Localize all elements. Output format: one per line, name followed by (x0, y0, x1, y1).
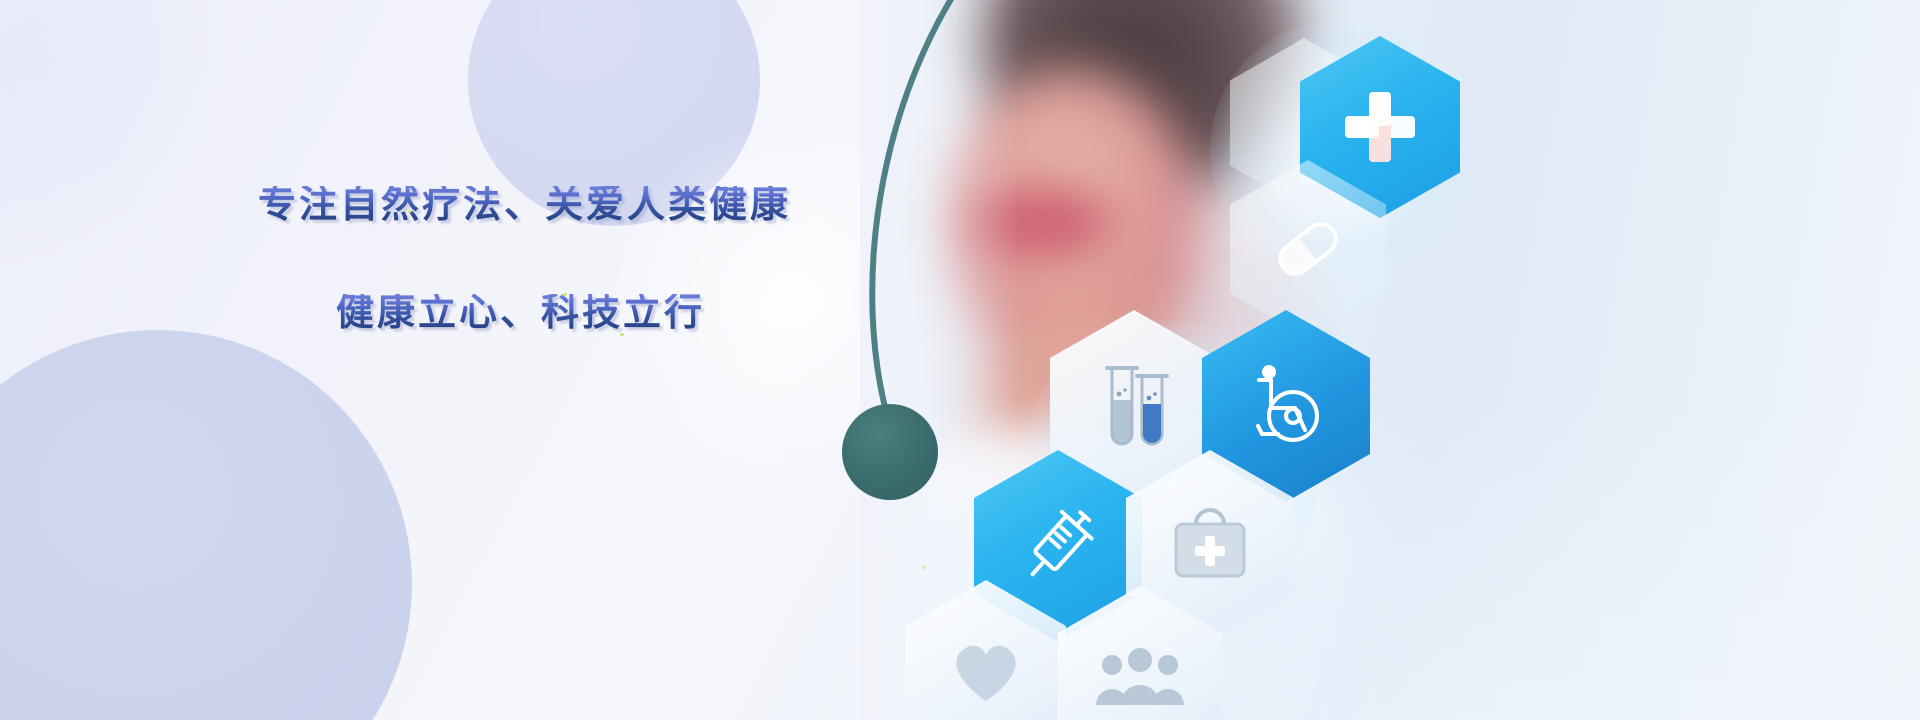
sparkle-speck-3 (620, 333, 624, 336)
test-tubes-icon (1086, 356, 1182, 456)
heart-icon (946, 635, 1026, 709)
decorative-soft-glow-left (0, 0, 240, 270)
first-aid-kit-icon (1162, 502, 1258, 590)
capsule-pill-icon (1263, 204, 1353, 294)
medical-cross-icon (1337, 84, 1423, 170)
arc-end-dot (842, 404, 938, 500)
wheelchair-icon (1238, 358, 1334, 454)
sparkle-speck-1 (408, 210, 412, 213)
sparkle-speck-4 (922, 566, 926, 569)
sparkle-speck-2 (562, 293, 567, 296)
hero-banner: 专注自然疗法、关爱人类健康 健康立心、科技立行 (0, 0, 1920, 720)
headline-line-2: 健康立心、科技立行 (336, 294, 878, 332)
syringe-icon (1008, 496, 1108, 596)
decorative-circle-bottom-left (0, 330, 412, 720)
headline-line-1: 专注自然疗法、关爱人类健康 (258, 186, 878, 224)
hexagon-icon-cluster (930, 20, 1490, 720)
headline-block: 专注自然疗法、关爱人类健康 健康立心、科技立行 (258, 186, 878, 332)
family-group-icon (1092, 647, 1188, 713)
